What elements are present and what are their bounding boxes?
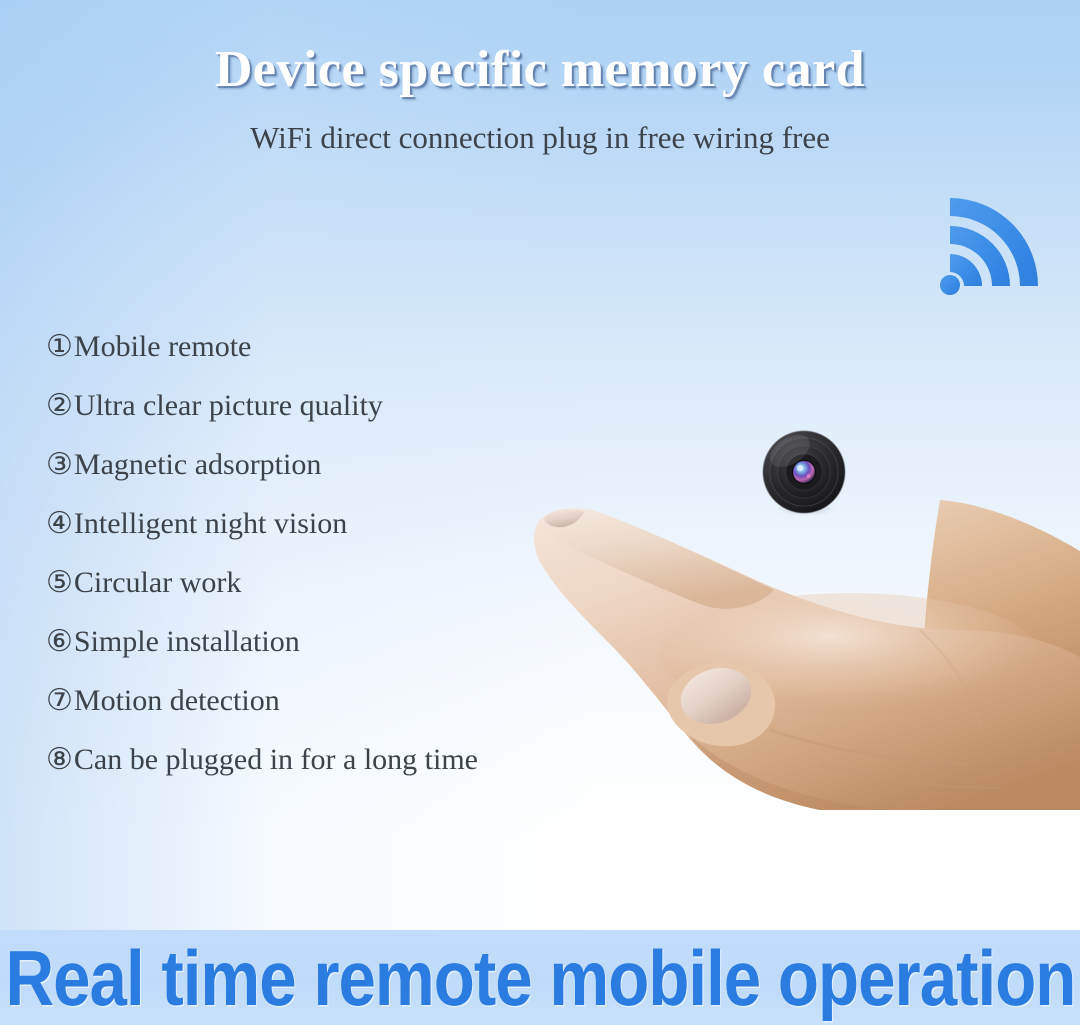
list-item-label: Ultra clear picture quality [74, 389, 383, 423]
page-subtitle: WiFi direct connection plug in free wiri… [0, 120, 1080, 156]
list-item: ② Ultra clear picture quality [46, 389, 666, 448]
list-item-number: ① [46, 332, 73, 362]
list-item-number: ⑤ [46, 568, 73, 598]
list-item: ① Mobile remote [46, 330, 666, 389]
list-item-number: ③ [46, 450, 73, 480]
list-item-number: ⑦ [46, 686, 73, 716]
list-item-label: Can be plugged in for a long time [74, 743, 478, 777]
open-palm-hand [520, 480, 1080, 810]
mini-camera-device [760, 429, 848, 517]
list-item-number: ⑥ [46, 627, 73, 657]
banner-text: Real time remote mobile operation [5, 933, 1075, 1023]
list-item-label: Mobile remote [74, 330, 251, 364]
list-item-number: ⑧ [46, 745, 73, 775]
page-title: Device specific memory card [0, 40, 1080, 99]
list-item-label: Simple installation [74, 625, 300, 659]
list-item-number: ② [46, 391, 73, 421]
bottom-banner: Real time remote mobile operation [0, 930, 1080, 1025]
list-item-label: Intelligent night vision [74, 507, 347, 541]
list-item-label: Magnetic adsorption [74, 448, 321, 482]
product-marketing-image: Device specific memory card WiFi direct … [0, 0, 1080, 1025]
list-item-label: Circular work [74, 566, 241, 600]
wifi-icon [928, 190, 1046, 300]
list-item-label: Motion detection [74, 684, 280, 718]
list-item-number: ④ [46, 509, 73, 539]
